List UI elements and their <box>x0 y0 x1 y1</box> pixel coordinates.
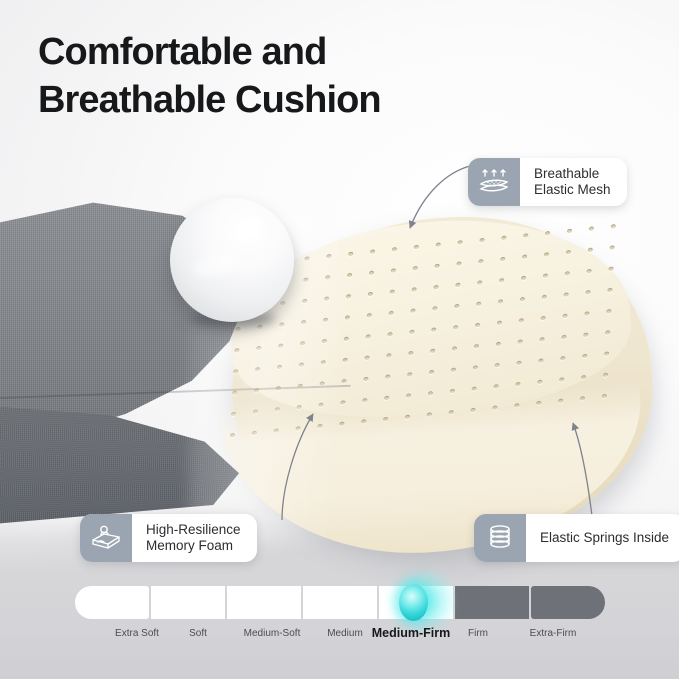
firmness-label-extra-firm[interactable]: Extra-Firm <box>530 628 577 639</box>
callout-mesh-line-1: Breathable <box>534 166 611 183</box>
breathable-mesh-icon <box>468 158 520 206</box>
callout-high-resilience-memory-foam[interactable]: High-Resilience Memory Foam <box>80 514 257 562</box>
callout-foam-text: High-Resilience Memory Foam <box>132 514 257 562</box>
firmness-segment-medium[interactable] <box>303 586 377 619</box>
firmness-segment-extra-firm[interactable] <box>531 586 605 619</box>
firmness-segment-medium-soft[interactable] <box>227 586 301 619</box>
callout-breathable-elastic-mesh[interactable]: Breathable Elastic Mesh <box>468 158 627 206</box>
firmness-labels: Extra Soft Soft Medium-Soft Medium Mediu… <box>0 628 679 648</box>
firmness-segment-extra-soft[interactable] <box>75 586 149 619</box>
coil-spring-icon <box>474 514 526 562</box>
callout-foam-line-2: Memory Foam <box>146 538 241 555</box>
callout-mesh-text: Breathable Elastic Mesh <box>520 158 627 206</box>
firmness-scale: Extra Soft Soft Medium-Soft Medium Mediu… <box>0 586 679 656</box>
firmness-label-firm[interactable]: Firm <box>468 628 488 639</box>
product-infographic: Comfortable and Breathable Cushion <box>0 0 679 679</box>
firmness-label-extra-soft[interactable]: Extra Soft <box>115 628 159 639</box>
page-title-line-2: Breathable Cushion <box>38 76 558 124</box>
firmness-label-medium-firm[interactable]: Medium-Firm <box>372 626 450 640</box>
firmness-bar[interactable] <box>75 586 605 619</box>
page-title-line-1: Comfortable and <box>38 28 558 76</box>
callout-spring-text: Elastic Springs Inside <box>526 514 679 562</box>
firmness-segment-soft[interactable] <box>151 586 225 619</box>
firmness-knob[interactable] <box>399 584 428 621</box>
callout-foam-line-1: High-Resilience <box>146 522 241 539</box>
firmness-segment-firm[interactable] <box>455 586 529 619</box>
callout-elastic-springs-inside[interactable]: Elastic Springs Inside <box>474 514 679 562</box>
page-title: Comfortable and Breathable Cushion <box>38 28 558 124</box>
firmness-label-medium[interactable]: Medium <box>327 628 363 639</box>
cushion-render <box>0 196 678 556</box>
memory-foam-block-icon <box>80 514 132 562</box>
callout-spring-line-1: Elastic Springs Inside <box>540 530 669 547</box>
callout-mesh-line-2: Elastic Mesh <box>534 182 611 199</box>
firmness-label-medium-soft[interactable]: Medium-Soft <box>244 628 301 639</box>
firmness-label-soft[interactable]: Soft <box>189 628 207 639</box>
